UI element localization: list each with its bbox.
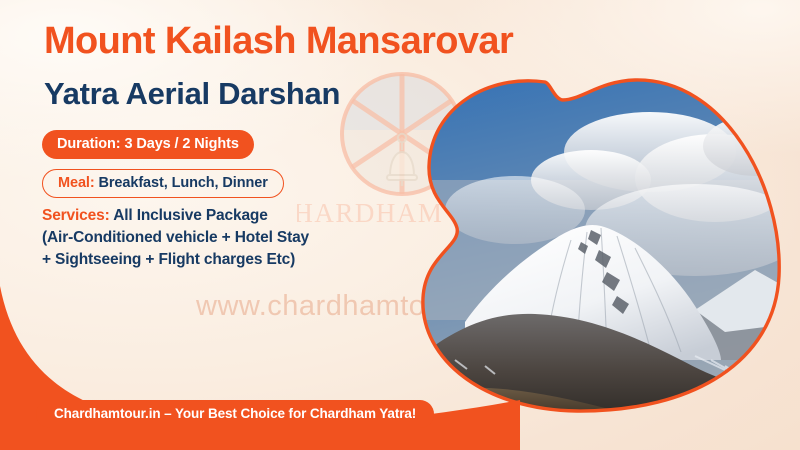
services-line3: + Sightseeing + Flight charges Etc) (42, 251, 295, 268)
promo-banner: CHARDHAM TOUR www.chardhamtour.in (0, 0, 800, 450)
footer-tagline: Chardhamtour.in – Your Best Choice for C… (36, 400, 434, 428)
meal-label: Meal: (58, 175, 95, 191)
services-value: All Inclusive Package (113, 207, 268, 224)
duration-badge: Duration: 3 Days / 2 Nights (42, 130, 254, 159)
text-content: Mount Kailash Mansarovar Yatra Aerial Da… (0, 0, 470, 450)
page-subtitle: Yatra Aerial Darshan (44, 78, 340, 109)
services-line2: (Air-Conditioned vehicle + Hotel Stay (42, 229, 309, 246)
services-label: Services: (42, 207, 110, 224)
meal-value: Breakfast, Lunch, Dinner (99, 175, 268, 191)
meal-badge: Meal: Breakfast, Lunch, Dinner (42, 169, 284, 198)
page-title: Mount Kailash Mansarovar (44, 22, 513, 60)
services-block: Services: All Inclusive Package (Air-Con… (42, 205, 462, 271)
